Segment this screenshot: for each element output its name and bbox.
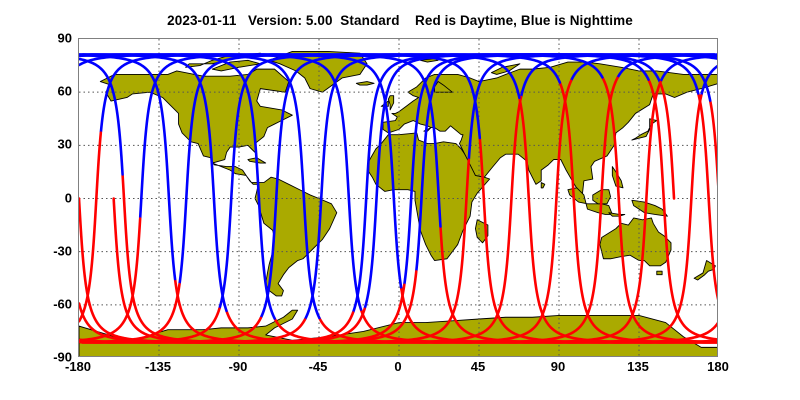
x-tick-label: 90 [518,359,598,374]
x-tick-label: 45 [438,359,518,374]
x-tick-label: -45 [278,359,358,374]
x-tick-label: 0 [358,359,438,374]
landmass [100,69,292,184]
y-tick-label: 60 [12,84,72,99]
y-tick-label: -60 [12,296,72,311]
page-title: 2023-01-11 Version: 5.00 Standard Red is… [0,13,800,28]
x-tick-label: 135 [598,359,678,374]
landmass [632,200,668,216]
ground-track-daytime [710,101,717,197]
y-tick-label: 30 [12,137,72,152]
map-svg [79,39,717,356]
landmass [388,96,393,110]
x-tick-label: -135 [118,359,198,374]
landmass [600,218,671,266]
ground-track-nighttime [439,199,441,227]
landmass [79,310,717,356]
ground-track-daytime [123,175,124,198]
y-tick-label: 0 [12,190,72,205]
landmass [255,177,337,296]
landmass [541,183,545,188]
ground-track-daytime [79,133,101,322]
ground-track-nighttime [394,199,401,288]
plot-canvas [79,39,717,356]
ground-track-nighttime [169,199,175,280]
landmass [657,271,662,275]
landmass [356,82,374,86]
y-tick-label: 90 [12,31,72,46]
y-tick-label: -30 [12,243,72,258]
plot-area [78,38,718,357]
ground-track-daytime [709,199,717,303]
x-tick-label: -90 [198,359,278,374]
ground-track-map: 2023-01-11 Version: 5.00 Standard Red is… [0,0,800,400]
x-tick-label: -180 [38,359,118,374]
ground-track-daytime [698,94,708,198]
landmass [609,213,625,217]
x-tick-label: 180 [678,359,758,374]
ground-track-nighttime [214,199,227,311]
